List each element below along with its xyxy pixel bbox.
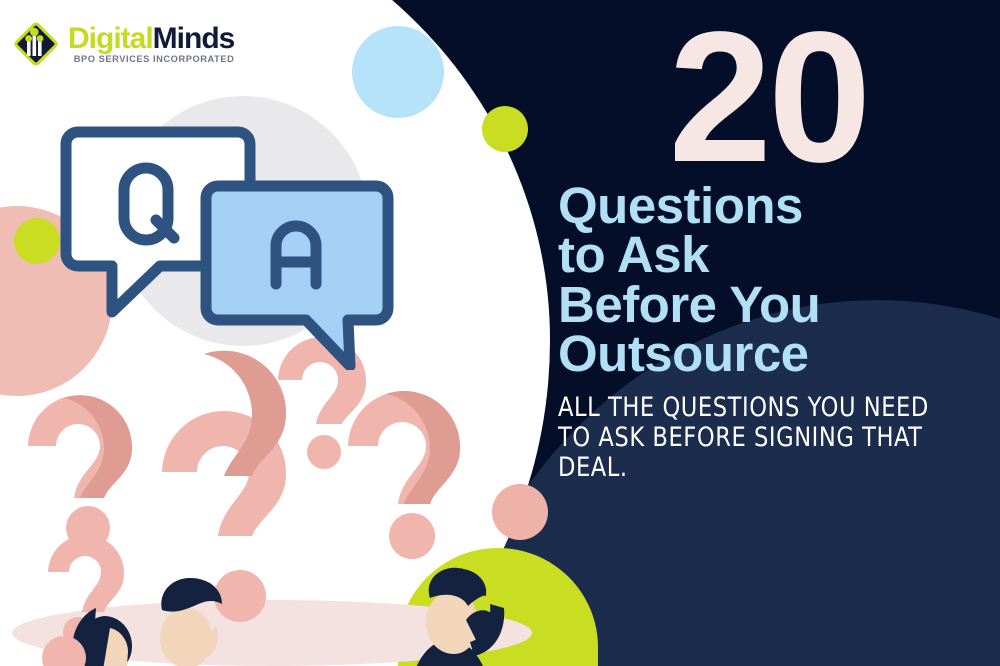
headline-line: Questions	[558, 181, 978, 230]
logo-wordmark: DigitalMinds BPO SERVICES INCORPORATED	[68, 24, 234, 64]
logo-word-digital: Digital	[68, 22, 153, 55]
headline-line: Before You	[558, 280, 978, 329]
qa-speech-bubbles-icon	[60, 110, 410, 370]
subtitle-block: All the questions you need to ask before…	[558, 393, 978, 484]
person-illustration	[42, 608, 156, 666]
subtitle-line: to ask before signing that	[558, 423, 949, 453]
subtitle-line: All the questions you need	[558, 393, 949, 423]
headline-lines: Questions to Ask Before You Outsource	[558, 181, 978, 379]
brand-logo[interactable]: DigitalMinds BPO SERVICES INCORPORATED	[12, 20, 234, 68]
headline-number: 20	[558, 24, 978, 173]
people-and-question-marks-illustration	[0, 336, 560, 666]
headline-line: to Ask	[558, 230, 978, 279]
logo-word-minds: Minds	[153, 22, 235, 55]
person-illustration	[354, 568, 504, 666]
headline-line: Outsource	[558, 329, 978, 378]
question-mark-icon	[348, 391, 460, 559]
digital-minds-diamond-logo-icon	[12, 20, 60, 68]
lime-circle-top-decoration	[482, 106, 528, 152]
poster-canvas: DigitalMinds BPO SERVICES INCORPORATED 2…	[0, 0, 1000, 666]
question-mark-icon	[28, 395, 132, 550]
answer-bubble-icon	[206, 186, 388, 366]
headline-block: 20 Questions to Ask Before You Outsource…	[558, 24, 978, 483]
pink-circle-right-decoration	[492, 484, 548, 540]
light-blue-circle-decoration	[352, 26, 444, 118]
subtitle-line: deal.	[558, 453, 949, 483]
lime-circle-left-decoration	[14, 218, 60, 264]
logo-word: DigitalMinds	[68, 24, 234, 54]
logo-tagline: BPO SERVICES INCORPORATED	[68, 55, 234, 64]
